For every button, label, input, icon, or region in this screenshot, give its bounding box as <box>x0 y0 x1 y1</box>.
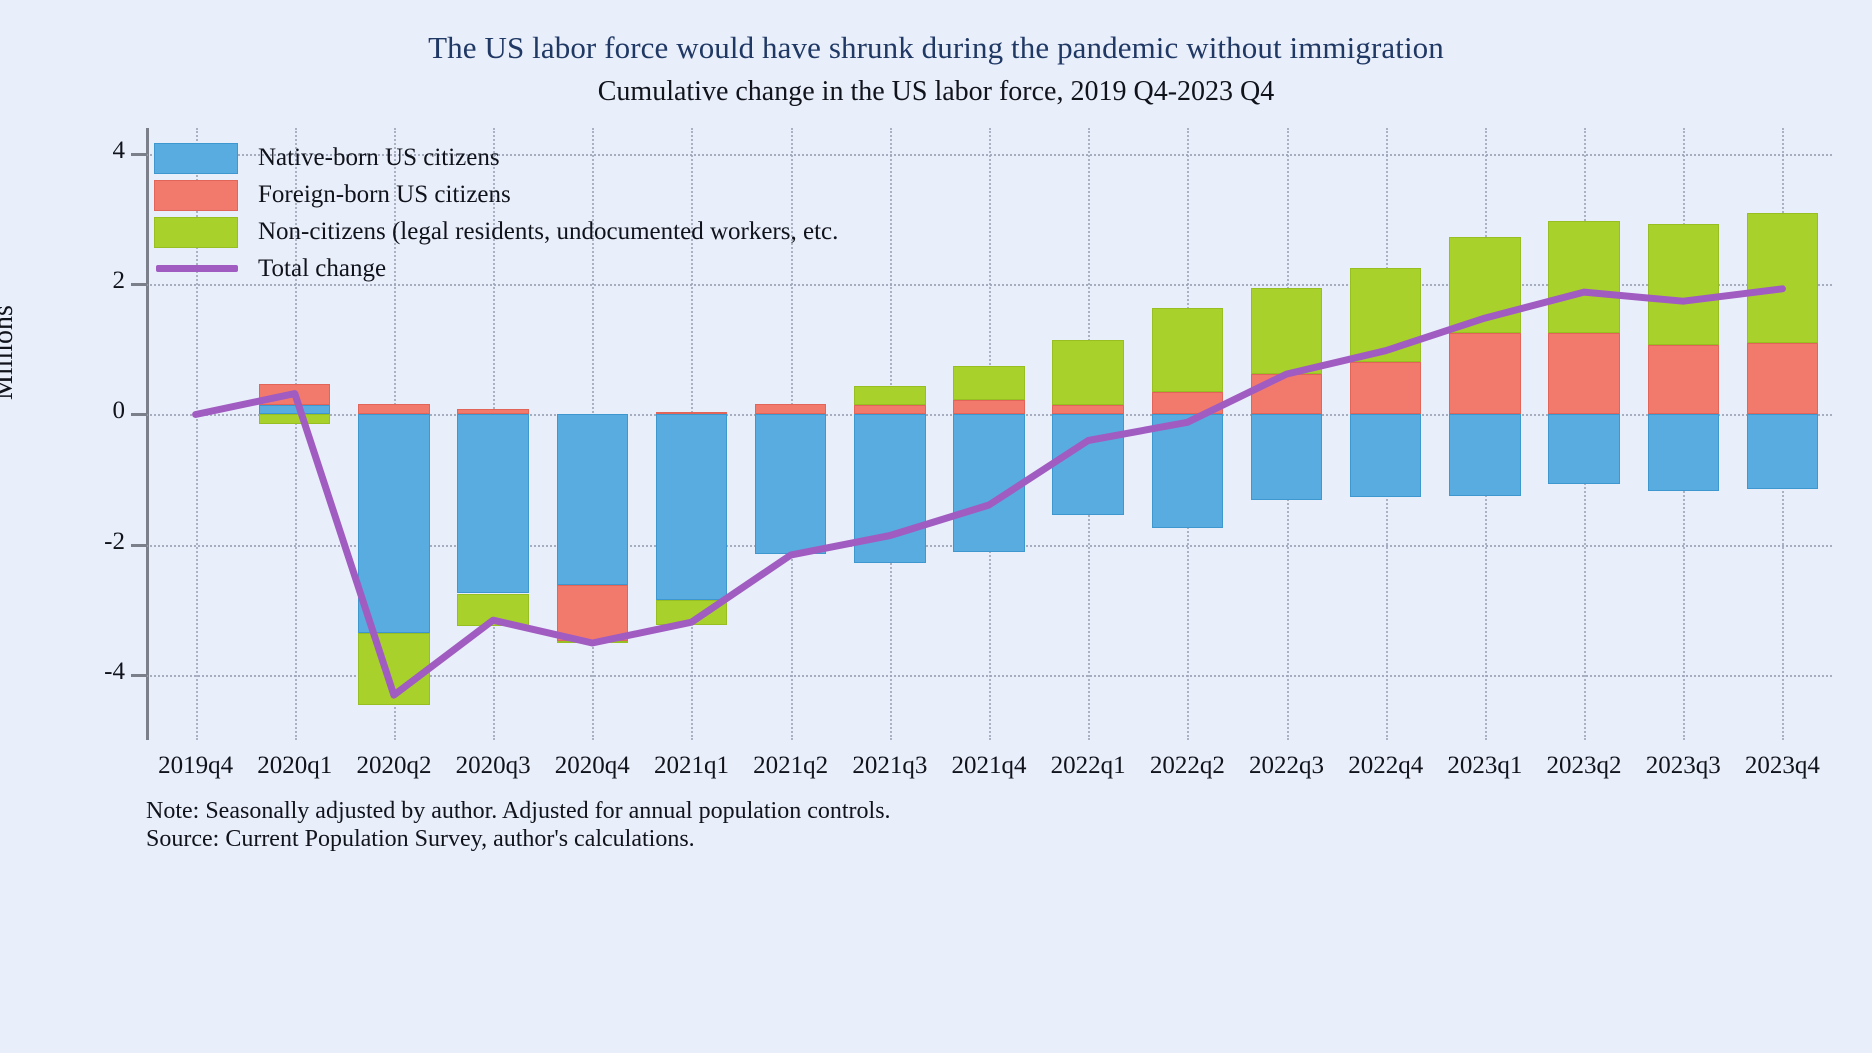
x-tick-label: 2023q2 <box>1547 752 1622 780</box>
legend-label-foreign: Foreign-born US citizens <box>258 176 511 213</box>
legend-swatch-noncitizen-icon <box>154 217 238 248</box>
legend-item-noncitizen[interactable]: Non-citizens (legal residents, undocumen… <box>154 213 914 250</box>
y-tick-label: -4 <box>104 658 125 686</box>
source-text: Source: Current Population Survey, autho… <box>146 826 695 853</box>
y-tick-label: 2 <box>113 267 126 295</box>
x-tick-label: 2020q1 <box>257 752 332 780</box>
chart-legend: Native-born US citizens Foreign-born US … <box>154 139 914 287</box>
x-tick-label: 2023q4 <box>1745 752 1820 780</box>
x-tick-label: 2022q3 <box>1249 752 1324 780</box>
y-tick-label: 0 <box>113 397 126 425</box>
legend-item-native[interactable]: Native-born US citizens <box>154 139 914 176</box>
x-tick-label: 2020q2 <box>356 752 431 780</box>
legend-item-total[interactable]: Total change <box>154 250 914 287</box>
note-text: Note: Seasonally adjusted by author. Adj… <box>146 798 891 825</box>
legend-item-foreign[interactable]: Foreign-born US citizens <box>154 176 914 213</box>
x-tick-label: 2020q4 <box>555 752 630 780</box>
x-tick-label: 2022q2 <box>1150 752 1225 780</box>
chart-subtitle: Cumulative change in the US labor force,… <box>0 76 1872 108</box>
legend-label-native: Native-born US citizens <box>258 139 500 176</box>
legend-label-total: Total change <box>258 250 386 287</box>
x-tick-label: 2020q3 <box>456 752 531 780</box>
chart-title: The US labor force would have shrunk dur… <box>0 30 1872 66</box>
x-tick-label: 2021q1 <box>654 752 729 780</box>
legend-line-total-icon <box>156 265 238 272</box>
legend-swatch-native-icon <box>154 143 238 174</box>
y-tick-label: -2 <box>104 528 125 556</box>
y-axis-title: Millions <box>0 305 20 400</box>
y-tick-mark <box>131 283 147 286</box>
x-tick-label: 2021q2 <box>753 752 828 780</box>
y-tick-mark <box>131 153 147 156</box>
x-tick-label: 2023q3 <box>1646 752 1721 780</box>
x-tick-label: 2021q3 <box>852 752 927 780</box>
legend-swatch-foreign-icon <box>154 180 238 211</box>
x-tick-label: 2019q4 <box>158 752 233 780</box>
y-tick-mark <box>131 544 147 547</box>
y-tick-mark <box>131 674 147 677</box>
x-tick-label: 2023q1 <box>1447 752 1522 780</box>
y-tick-label: 4 <box>113 137 126 165</box>
legend-label-noncitizen: Non-citizens (legal residents, undocumen… <box>258 213 838 250</box>
x-tick-label: 2021q4 <box>952 752 1027 780</box>
x-tick-label: 2022q1 <box>1051 752 1126 780</box>
y-tick-mark <box>131 413 147 416</box>
x-tick-label: 2022q4 <box>1348 752 1423 780</box>
